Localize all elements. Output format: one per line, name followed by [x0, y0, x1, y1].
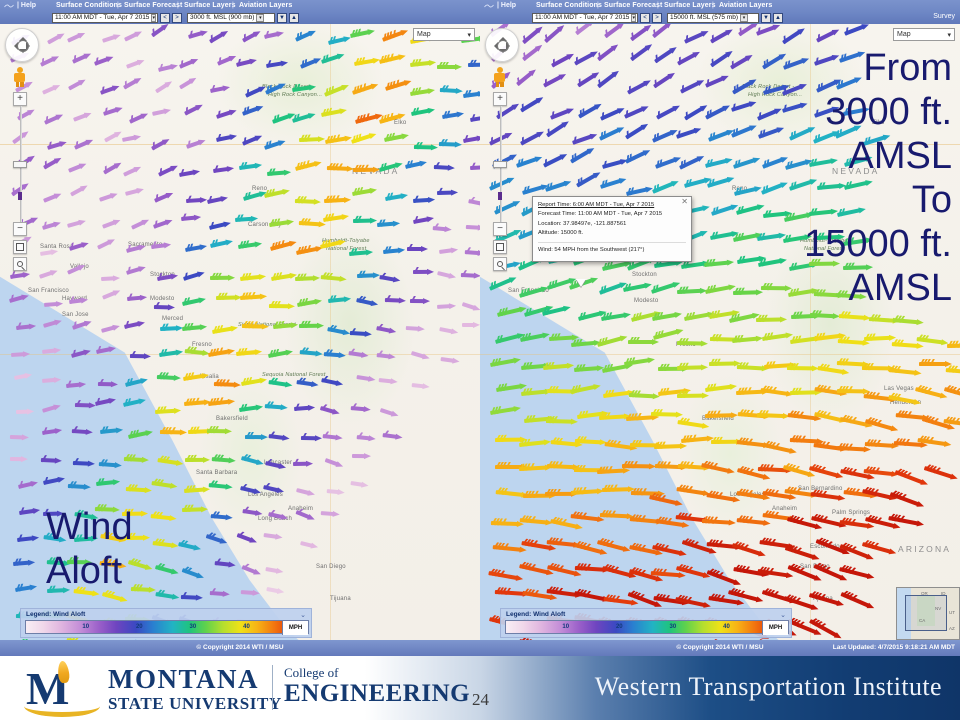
- menu-sep-2-right: |: [657, 2, 659, 9]
- wind-barb: [350, 331, 366, 332]
- wind-barb: [158, 167, 171, 173]
- wind-barb: [301, 541, 313, 544]
- legend-tick-30-left: 30: [190, 624, 197, 630]
- wind-barb: [758, 128, 777, 135]
- wind-barb: [490, 407, 514, 411]
- inset-viewport-box[interactable]: [905, 595, 947, 631]
- wind-barb: [101, 326, 114, 329]
- map-type-value-left: Map: [417, 31, 431, 38]
- wind-barb: [730, 56, 747, 66]
- wind-barb: [676, 597, 705, 603]
- menu-surface-conditions-right[interactable]: Surface Conditions: [536, 2, 602, 9]
- wind-barb: [42, 222, 55, 226]
- wind-barb: [520, 334, 543, 339]
- wind-barb: [522, 29, 536, 41]
- chevron-down-icon: ▾: [631, 14, 636, 22]
- wind-barb: [47, 35, 58, 41]
- wind-barb: [323, 215, 343, 218]
- wind-barb: [631, 491, 659, 492]
- wind-barb: [708, 570, 736, 581]
- wind-barb: [543, 155, 561, 164]
- wind-barb: [412, 351, 424, 355]
- wind-barb: [434, 165, 449, 166]
- wind-barb: [381, 408, 393, 412]
- wind-barb: [156, 592, 173, 595]
- wind-barb: [349, 250, 367, 252]
- wind-barb: [128, 432, 146, 436]
- wind-barb: [100, 86, 114, 91]
- wind-barb: [762, 55, 780, 66]
- wind-barb: [242, 107, 257, 112]
- wind-barb: [705, 285, 729, 290]
- wind-barb: [181, 216, 195, 217]
- wind-barb: [123, 399, 140, 403]
- wind-barb: [265, 404, 282, 405]
- wind-barb: [731, 126, 750, 134]
- wind-barb: [272, 114, 289, 120]
- wind-barb: [18, 481, 32, 484]
- wind-barb: [264, 190, 283, 194]
- pegman-leg-right: [20, 82, 24, 87]
- wind-barb: [684, 178, 705, 184]
- wind-barb: [708, 130, 728, 138]
- wind-barb: [47, 142, 61, 146]
- msu-line-2: STATE UNIVERSITY: [108, 693, 282, 714]
- wind-barb: [267, 170, 285, 171]
- zoom-in-button-left[interactable]: +: [13, 92, 27, 106]
- wind-info-popup[interactable]: ✕ Report Time: 6:00 AM MDT - Tue, Apr 7 …: [532, 196, 692, 262]
- wind-barb: [40, 57, 52, 63]
- chevron-down-icon: ▾: [467, 31, 471, 39]
- zoom-in-button-right[interactable]: +: [493, 92, 507, 106]
- wind-barb: [839, 314, 865, 316]
- overview-map-inset[interactable]: OR ID NV CA UT AZ: [896, 587, 960, 640]
- wind-barb: [761, 183, 782, 191]
- wind-barb: [570, 385, 595, 390]
- wind-barb: [321, 275, 340, 277]
- map-pan-control-left[interactable]: [5, 28, 39, 62]
- wind-barb: [571, 490, 598, 492]
- wind-barb: [575, 24, 589, 32]
- wind-barb: [243, 509, 257, 511]
- wind-barb: [544, 28, 558, 40]
- wind-barb: [604, 24, 618, 35]
- wind-barb: [522, 185, 542, 191]
- wind-barb: [602, 364, 626, 369]
- menu-surface-conditions-left[interactable]: Surface Conditions: [56, 2, 122, 9]
- wind-barb: [216, 111, 230, 116]
- pegman-body: [14, 73, 25, 82]
- wind-barb: [245, 87, 259, 94]
- legend-tick-40-left: 40: [243, 624, 250, 630]
- wind-barb: [212, 457, 230, 458]
- wind-barb: [44, 115, 57, 121]
- wind-barb: [124, 322, 138, 325]
- wind-barb: [732, 337, 757, 339]
- wind-barb: [412, 383, 424, 384]
- wind-barb: [410, 89, 429, 92]
- wind-barb: [238, 533, 252, 538]
- menu-surface-forecast-left[interactable]: Surface Forecast: [124, 2, 182, 9]
- wind-barb: [810, 593, 839, 601]
- wind-barb: [737, 491, 765, 495]
- menu-sep-3-left: |: [232, 2, 234, 9]
- wind-barb: [438, 271, 450, 274]
- wind-barb: [183, 374, 203, 377]
- wind-barb: [578, 105, 596, 115]
- rectangle-select-tool-left[interactable]: [13, 240, 27, 254]
- wind-barb: [179, 59, 192, 64]
- wind-barb: [439, 142, 456, 143]
- altitude-range-line6: AMSL: [804, 266, 952, 310]
- wind-barb: [182, 325, 200, 327]
- zoom-area-tool-left[interactable]: [13, 257, 27, 271]
- wind-barb: [383, 248, 399, 250]
- wind-barb: [126, 60, 138, 64]
- wind-barb: [605, 442, 632, 446]
- wind-barb: [764, 443, 791, 449]
- wind-barb: [383, 433, 397, 435]
- wind-barb: [575, 439, 601, 440]
- wind-barb: [869, 317, 894, 319]
- wind-barb: [240, 274, 260, 276]
- level-up-button-left[interactable]: ▲: [289, 13, 299, 23]
- wind-barb: [574, 366, 598, 368]
- wind-barb: [41, 458, 56, 459]
- menu-surface-layers-right[interactable]: Surface Layers: [664, 2, 716, 9]
- menu-surface-layers-left[interactable]: Surface Layers: [184, 2, 236, 9]
- wind-barb: [324, 86, 342, 93]
- level-down-button-right[interactable]: ▼: [761, 13, 771, 23]
- time-next-button-left[interactable]: >: [172, 13, 182, 23]
- pan-center-icon[interactable]: [497, 40, 509, 52]
- wind-barb: [210, 240, 227, 244]
- wind-barb: [101, 276, 114, 277]
- legend-tick-40-right: 40: [723, 624, 730, 630]
- wind-barb: [131, 220, 143, 226]
- altitude-level-select-right[interactable]: 15000 ft. MSL (575 mb) ▾: [667, 13, 759, 23]
- wind-barb: [413, 198, 429, 199]
- wind-barb: [39, 271, 51, 275]
- wind-barb: [547, 464, 574, 465]
- wind-barb: [571, 340, 595, 342]
- wind-barb: [547, 589, 576, 593]
- wind-barb: [945, 387, 960, 395]
- wind-barb: [42, 86, 53, 91]
- wind-barb: [680, 82, 698, 91]
- wind-barb: [705, 414, 732, 415]
- map-type-select-left[interactable]: Map ▾: [413, 28, 475, 41]
- wind-barb: [785, 489, 813, 493]
- wind-barb: [733, 159, 754, 166]
- wind-barb: [710, 30, 727, 39]
- college-line-1: College of: [284, 666, 470, 680]
- wind-barb: [653, 330, 677, 336]
- menu-aviation-layers-left[interactable]: Aviation Layers: [239, 2, 292, 9]
- wind-barb: [651, 283, 673, 290]
- wind-barb: [326, 458, 338, 463]
- wind-barb: [737, 256, 760, 259]
- wind-barb: [811, 492, 840, 496]
- wind-barb: [601, 313, 624, 317]
- wind-barb: [354, 59, 374, 62]
- wind-barb: [705, 159, 726, 164]
- close-icon[interactable]: ✕: [681, 198, 688, 206]
- wind-barb: [295, 199, 315, 200]
- wind-barb: [630, 27, 645, 38]
- time-select-left[interactable]: 11:00 AM MDT - Tue, Apr 7 2015 ▾: [52, 13, 158, 23]
- wind-barb: [489, 571, 517, 576]
- street-view-pegman-icon[interactable]: [13, 67, 26, 87]
- wind-barb: [433, 226, 446, 227]
- legend-tick-10-left: 10: [82, 624, 89, 630]
- wind-barb: [405, 161, 421, 165]
- wind-barb: [188, 429, 208, 430]
- wind-barb: [684, 106, 701, 116]
- wind-barb: [379, 378, 392, 379]
- wind-barb: [519, 466, 546, 467]
- wind-barb: [790, 336, 815, 339]
- wind-barb: [757, 413, 784, 414]
- map-pan-control-right[interactable]: [485, 28, 519, 62]
- wind-barb: [125, 379, 141, 383]
- wind-barb: [183, 272, 198, 277]
- legend-collapse-icon[interactable]: ⌄: [780, 611, 786, 619]
- wind-barb: [242, 136, 256, 142]
- wind-barb: [123, 167, 135, 172]
- wind-barb: [296, 246, 317, 250]
- wind-barb: [763, 86, 783, 91]
- wind-barb: [235, 217, 252, 218]
- wind-barb: [624, 358, 648, 362]
- wind-barb: [269, 220, 288, 223]
- wind-barb: [264, 485, 279, 488]
- wind-barb: [328, 37, 345, 41]
- wind-barb: [896, 413, 924, 416]
- wind-barb: [546, 123, 563, 134]
- zoom-out-button-right[interactable]: −: [493, 222, 507, 236]
- chevron-down-icon: ▾: [740, 14, 748, 22]
- wind-barb: [17, 536, 33, 538]
- wind-barb: [465, 250, 479, 251]
- wind-barb: [320, 241, 340, 246]
- wind-barb: [297, 488, 309, 491]
- time-next-button-right[interactable]: >: [652, 13, 662, 23]
- pan-center-icon[interactable]: [17, 40, 29, 52]
- wind-barb: [575, 566, 604, 568]
- montana-state-logo-icon: M: [22, 660, 106, 716]
- wind-barb: [209, 483, 227, 485]
- wind-barb: [297, 510, 310, 515]
- wind-barb: [40, 250, 52, 252]
- zoom-level-marker-left: [18, 192, 22, 200]
- street-view-pegman-icon[interactable]: [493, 67, 506, 87]
- help-link-right[interactable]: | Help: [497, 2, 516, 9]
- pegman-leg-left: [16, 82, 20, 87]
- wind-barb: [597, 336, 621, 343]
- wind-barb: [736, 205, 758, 211]
- wind-barb: [268, 350, 286, 353]
- wind-barb: [102, 221, 114, 226]
- legend-title-left: Legend: Wind Aloft: [26, 611, 308, 618]
- wind-barb: [551, 519, 578, 525]
- montana-state-wordmark: MONTANA STATE UNIVERSITY: [108, 666, 282, 714]
- map-type-select-right[interactable]: Map ▾: [893, 28, 955, 41]
- wind-barb: [602, 488, 629, 489]
- wind-barb: [102, 292, 114, 297]
- wind-barb: [542, 306, 565, 311]
- wind-barb: [96, 348, 110, 351]
- wind-barb: [151, 243, 164, 245]
- wind-barb: [490, 359, 514, 363]
- wind-barb: [184, 488, 204, 489]
- wind-barb: [351, 133, 370, 139]
- wind-barb: [678, 420, 704, 424]
- copyright-left: © Copyright 2014 WTI / MSU: [196, 644, 283, 651]
- wind-barb: [179, 170, 194, 173]
- wind-barb: [70, 187, 81, 193]
- wind-barb: [655, 158, 675, 165]
- wind-barb: [241, 379, 261, 382]
- wind-barb: [269, 380, 287, 383]
- wind-barb: [677, 341, 702, 342]
- wind-aloft-line1: Wind: [46, 505, 133, 549]
- wind-barb: [497, 307, 521, 313]
- wind-barb: [543, 75, 560, 84]
- wind-barb: [838, 339, 864, 341]
- wind-barb: [151, 514, 171, 516]
- wind-barb: [733, 290, 757, 291]
- toolbar-control-row-right: 11:00 AM MDT - Tue, Apr 7 2015 ▾ < > 150…: [532, 12, 783, 23]
- altitude-level-select-left[interactable]: 3000 ft. MSL (900 mb) ▾: [187, 13, 275, 23]
- wind-barb: [520, 518, 547, 521]
- wind-barb: [406, 326, 419, 327]
- status-bar-left: © Copyright 2014 WTI / MSU: [0, 640, 480, 656]
- wind-barb: [495, 334, 518, 340]
- wind-barb: [413, 217, 428, 220]
- wind-barb: [321, 110, 340, 114]
- wind-barb: [122, 136, 135, 138]
- wind-barb: [889, 395, 915, 400]
- wind-barb: [151, 26, 163, 34]
- wind-barb: [158, 65, 171, 68]
- wind-barb: [630, 46, 646, 58]
- zoom-area-tool-right[interactable]: [493, 257, 507, 271]
- wind-barb: [520, 132, 538, 141]
- wind-barb: [327, 489, 339, 490]
- wind-barb: [604, 597, 633, 601]
- wind-barb: [264, 141, 280, 146]
- wind-barb: [684, 32, 702, 40]
- wind-barb: [242, 33, 255, 40]
- zoom-slider-thumb-left[interactable]: [13, 161, 27, 168]
- wind-barb: [266, 61, 281, 63]
- wind-barb: [269, 512, 283, 515]
- wind-barb: [182, 299, 200, 303]
- copyright-right: © Copyright 2014 WTI / MSU: [676, 644, 763, 651]
- menu-surface-forecast-right[interactable]: Surface Forecast: [604, 2, 662, 9]
- college-of-engineering-wordmark: College of ENGINEERING: [284, 666, 470, 709]
- wind-barb: [893, 318, 918, 320]
- wind-barb: [217, 56, 230, 61]
- zoom-out-button-left[interactable]: −: [13, 222, 27, 236]
- wind-barb: [491, 521, 518, 522]
- wind-barb: [623, 283, 646, 288]
- wind-barb: [864, 336, 890, 337]
- wind-barb: [917, 337, 942, 340]
- wind-barb: [42, 349, 55, 350]
- wind-barb: [603, 391, 629, 394]
- toolbar-left: | Help Surface Conditions | Surface Fore…: [0, 0, 480, 24]
- wind-barb: [837, 361, 863, 362]
- wind-barb: [208, 400, 229, 402]
- wind-barb: [602, 160, 622, 165]
- survey-link-right[interactable]: Survey: [933, 13, 955, 20]
- wind-barb: [19, 509, 34, 511]
- wind-barb: [684, 313, 708, 317]
- wind-barb: [816, 30, 833, 39]
- wind-barb: [209, 33, 222, 40]
- wind-barb: [466, 225, 479, 226]
- rectangle-select-tool-right[interactable]: [493, 240, 507, 254]
- wind-barb: [550, 109, 568, 116]
- wind-barb: [357, 298, 373, 301]
- time-select-right[interactable]: 11:00 AM MDT - Tue, Apr 7 2015 ▾: [532, 13, 638, 23]
- wind-barb: [266, 567, 278, 569]
- menu-aviation-layers-right[interactable]: Aviation Layers: [719, 2, 772, 9]
- wind-barb: [127, 296, 141, 297]
- wind-barb: [184, 401, 205, 403]
- wind-barb: [519, 287, 542, 294]
- chevron-down-icon: ▾: [256, 14, 264, 22]
- altitude-level-value-right: 15000 ft. MSL (575 mb): [670, 14, 738, 21]
- time-prev-button-right[interactable]: <: [640, 13, 650, 23]
- wind-barb: [327, 166, 348, 167]
- level-down-button-left[interactable]: ▼: [277, 13, 287, 23]
- level-up-button-right[interactable]: ▲: [773, 13, 783, 23]
- wind-barb: [629, 393, 654, 394]
- wind-barb: [598, 540, 625, 547]
- wind-barb: [737, 365, 762, 366]
- wind-barb: [153, 220, 166, 225]
- wind-barb: [758, 569, 787, 573]
- wind-barb: [241, 486, 256, 490]
- zoom-slider-thumb-right[interactable]: [493, 161, 507, 168]
- wind-barb: [863, 542, 891, 550]
- wind-barb: [377, 326, 391, 329]
- wind-barb: [126, 487, 146, 488]
- wind-barb: [729, 590, 758, 598]
- wind-barb: [157, 375, 175, 376]
- wind-barb: [461, 273, 475, 274]
- wind-barb: [844, 25, 863, 32]
- time-prev-button-left[interactable]: <: [160, 13, 170, 23]
- wind-barb: [656, 107, 674, 116]
- wind-barb: [516, 157, 536, 164]
- wind-barb: [577, 74, 593, 84]
- wind-barb: [442, 112, 458, 115]
- legend-collapse-icon[interactable]: ⌄: [300, 611, 306, 619]
- wind-barb: [702, 519, 730, 521]
- wind-barb: [72, 322, 85, 326]
- wind-barb: [155, 409, 175, 410]
- wind-barb: [351, 406, 365, 407]
- wind-barb: [160, 326, 177, 327]
- help-link-left[interactable]: | Help: [17, 2, 36, 9]
- toolbar-menu-row-right: | Help Surface Conditions | Surface Fore…: [480, 1, 960, 12]
- menu-sep-3-right: |: [712, 2, 714, 9]
- wind-barb: [240, 295, 261, 296]
